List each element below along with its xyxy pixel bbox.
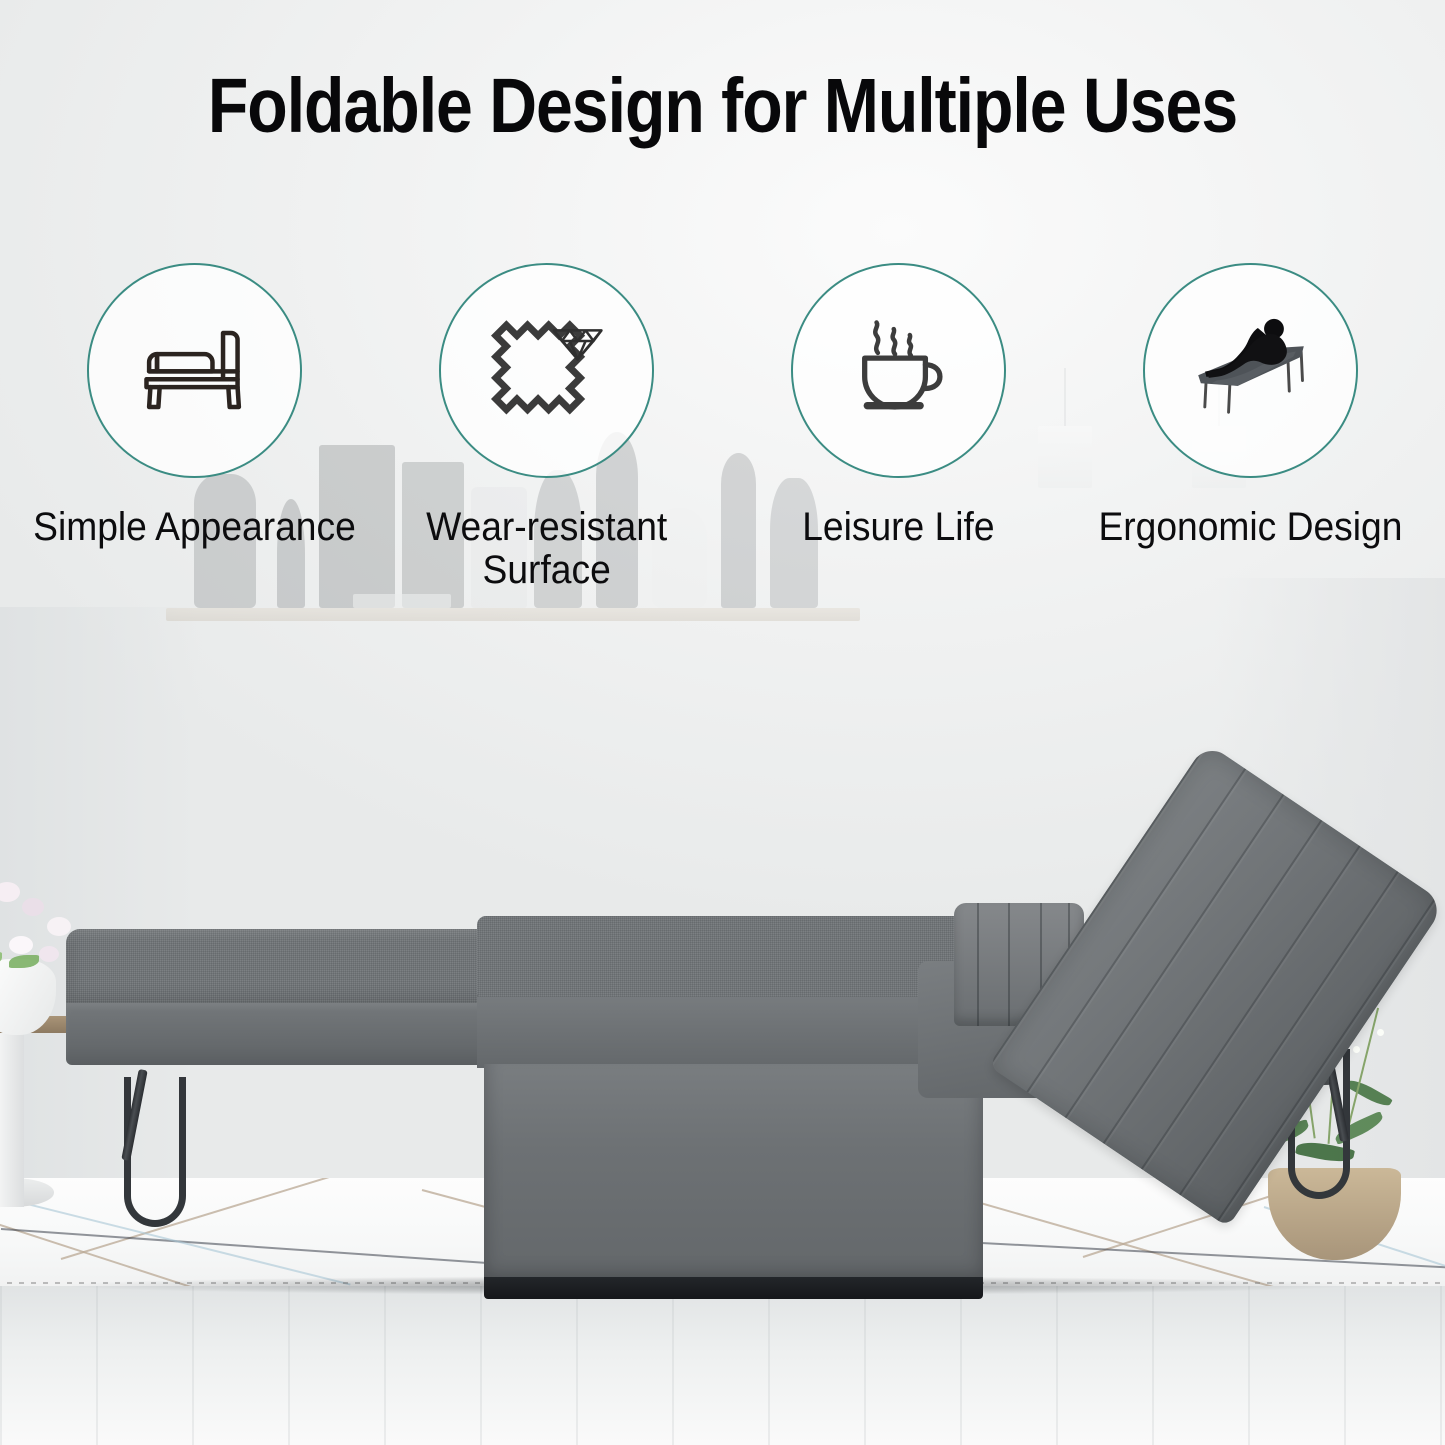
- feature-label: Leisure Life: [802, 506, 994, 549]
- feature-item-leisure-life: Leisure Life: [723, 263, 1075, 592]
- coffee-cup-icon: [833, 304, 965, 436]
- page-title: Foldable Design for Multiple Uses: [101, 62, 1344, 151]
- seat-top-surface: [477, 916, 990, 1001]
- feature-item-wear-resistant-surface: Wear-resistant Surface: [370, 263, 722, 592]
- center-base-shadow: [484, 1277, 983, 1299]
- feature-item-ergonomic-design: Ergonomic Design: [1075, 263, 1427, 592]
- product-feature-banner: Foldable Design for Multiple Uses: [0, 0, 1445, 1445]
- feature-label: Wear-resistant Surface: [426, 506, 667, 592]
- feature-icon-circle: [439, 263, 654, 478]
- feature-icon-circle: [87, 263, 302, 478]
- feature-list: Simple Appearance Wear: [0, 263, 1445, 592]
- folding-sofa-bed: [0, 0, 1445, 1445]
- feature-label: Simple Appearance: [33, 506, 356, 549]
- reclining-person-icon: [1185, 304, 1317, 436]
- fabric-diamond-icon: [480, 304, 612, 436]
- bed-icon: [128, 304, 260, 436]
- feature-item-simple-appearance: Simple Appearance: [18, 263, 370, 592]
- feature-icon-circle: [1143, 263, 1358, 478]
- feature-label: Ergonomic Design: [1099, 506, 1403, 549]
- seat-front-face: [477, 997, 990, 1068]
- reclined-backrest: [988, 742, 1445, 1227]
- feature-icon-circle: [791, 263, 1006, 478]
- center-base-box: [484, 1064, 983, 1289]
